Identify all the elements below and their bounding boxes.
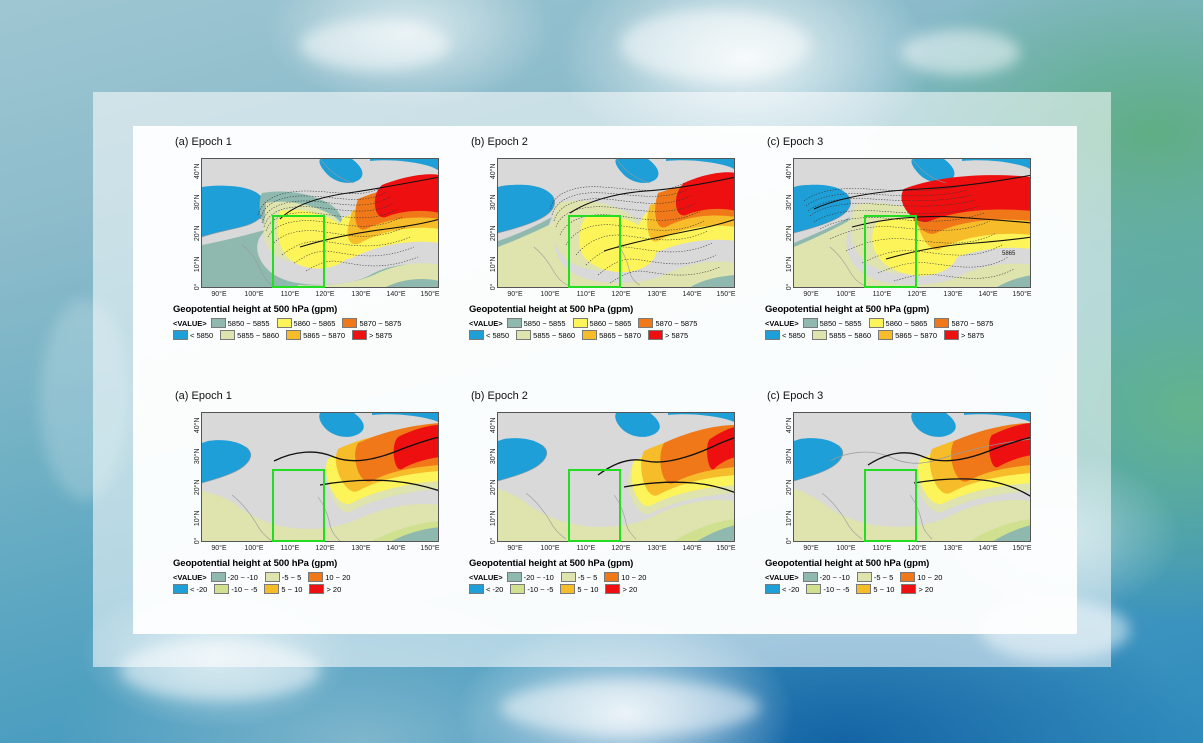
legend-item: -5 ~ 5 xyxy=(265,572,301,582)
legend-swatch xyxy=(560,584,575,594)
x-tick-110E: 110°E xyxy=(281,545,300,552)
legend-swatch xyxy=(309,584,324,594)
legend-swatch xyxy=(507,318,522,328)
legend-swatch xyxy=(211,572,226,582)
legend-value-label: <VALUE> xyxy=(173,573,207,582)
contour-map-canvas xyxy=(793,412,1031,542)
legend-value-label: <VALUE> xyxy=(469,319,503,328)
panel-title: (b) Epoch 2 xyxy=(471,390,528,402)
legend-item: 10 ~ 20 xyxy=(900,572,942,582)
legend-item: < 5850 xyxy=(765,330,805,340)
legend-item: > 5875 xyxy=(944,330,984,340)
contour-map-canvas xyxy=(201,412,439,542)
x-tick-150E: 150°E xyxy=(1012,291,1031,298)
legend-swatch xyxy=(648,330,663,340)
legend-value-label: <VALUE> xyxy=(765,573,799,582)
map-area: 40°N 30°N 20°N 10°N 0° xyxy=(497,158,735,288)
legend-swatch xyxy=(173,584,188,594)
legend-swatch xyxy=(342,318,357,328)
contour-svg xyxy=(498,413,735,542)
x-tick-140E: 140°E xyxy=(978,545,997,552)
contour-svg xyxy=(202,413,439,542)
legend-item: 5865 ~ 5870 xyxy=(878,330,937,340)
legend-item: > 20 xyxy=(901,584,933,594)
legend-swatch xyxy=(277,318,292,328)
legend-swatch xyxy=(604,572,619,582)
x-tick-90E: 90°E xyxy=(211,291,226,298)
x-tick-130E: 130°E xyxy=(943,291,962,298)
legend-item: 10 ~ 20 xyxy=(604,572,646,582)
x-tick-100E: 100°E xyxy=(540,545,559,552)
panel-anomaly-epoch-2: (b) Epoch 2 40°N 30°N 20°N 10°N 0° xyxy=(459,380,755,630)
legend-item: < 5850 xyxy=(469,330,509,340)
x-tick-90E: 90°E xyxy=(803,291,818,298)
x-tick-150E: 150°E xyxy=(420,291,439,298)
x-tick-130E: 130°E xyxy=(647,545,666,552)
x-tick-90E: 90°E xyxy=(803,545,818,552)
legend-swatch xyxy=(857,572,872,582)
legend-swatch xyxy=(469,584,484,594)
legend-item: 5855 ~ 5860 xyxy=(516,330,575,340)
legend-item: 5865 ~ 5870 xyxy=(582,330,641,340)
legend-swatch xyxy=(765,584,780,594)
legend-row-2: < 5850 5855 ~ 5860 5865 ~ 5870 > 5875 xyxy=(469,330,755,340)
legend-swatch xyxy=(469,330,484,340)
legend-row-2: < 5850 5855 ~ 5860 5865 ~ 5870 > 5875 xyxy=(173,330,459,340)
figure-sheet: (a) Epoch 1 40°N 30°N 20°N 10°N 0° xyxy=(133,126,1077,634)
legend-swatch xyxy=(806,584,821,594)
legend-item: 5 ~ 10 xyxy=(264,584,302,594)
legend-row-1: <VALUE> 5850 ~ 5855 5860 ~ 5865 5870 ~ 5… xyxy=(173,318,459,328)
legend-swatch xyxy=(638,318,653,328)
contour-map-canvas xyxy=(201,158,439,288)
map-area: 40°N 30°N 20°N 10°N 0° xyxy=(497,412,735,542)
x-tick-150E: 150°E xyxy=(420,545,439,552)
legend-absolute: Geopotential height at 500 hPa (gpm) <VA… xyxy=(765,304,1051,342)
legend-swatch xyxy=(573,318,588,328)
legend-item: > 20 xyxy=(605,584,637,594)
x-tick-100E: 100°E xyxy=(540,291,559,298)
legend-item: 5 ~ 10 xyxy=(856,584,894,594)
legend-title: Geopotential height at 500 hPa (gpm) xyxy=(173,558,459,569)
legend-item: 10 ~ 20 xyxy=(308,572,350,582)
x-tick-90E: 90°E xyxy=(507,545,522,552)
panel-anomaly-epoch-1: (a) Epoch 1 40°N 30°N 20°N 10°N 0° xyxy=(163,380,459,630)
x-tick-100E: 100°E xyxy=(244,291,263,298)
legend-swatch xyxy=(265,572,280,582)
map-area: 40°N 30°N 20°N 10°N 0° xyxy=(793,412,1031,542)
x-tick-120E: 120°E xyxy=(907,545,926,552)
legend-swatch xyxy=(173,330,188,340)
legend-swatch xyxy=(582,330,597,340)
x-tick-110E: 110°E xyxy=(873,291,892,298)
x-tick-120E: 120°E xyxy=(315,291,334,298)
legend-row-2: < -20 -10 ~ -5 5 ~ 10 > 20 xyxy=(765,584,1051,594)
panel-title: (b) Epoch 2 xyxy=(471,136,528,148)
legend-item: < -20 xyxy=(765,584,799,594)
legend-swatch xyxy=(934,318,949,328)
legend-swatch xyxy=(878,330,893,340)
legend-swatch xyxy=(561,572,576,582)
legend-swatch xyxy=(516,330,531,340)
contour-map-canvas xyxy=(497,158,735,288)
legend-item: -5 ~ 5 xyxy=(561,572,597,582)
legend-swatch xyxy=(900,572,915,582)
legend-item: -5 ~ 5 xyxy=(857,572,893,582)
legend-swatch xyxy=(507,572,522,582)
figure-row-absolute: (a) Epoch 1 40°N 30°N 20°N 10°N 0° xyxy=(133,126,1077,380)
legend-absolute: Geopotential height at 500 hPa (gpm) <VA… xyxy=(173,304,459,342)
legend-swatch xyxy=(220,330,235,340)
legend-row-1: <VALUE> -20 ~ -10 -5 ~ 5 10 ~ 20 xyxy=(469,572,755,582)
map-area: 40°N 30°N 20°N 10°N 0° xyxy=(201,412,439,542)
legend-row-1: <VALUE> -20 ~ -10 -5 ~ 5 10 ~ 20 xyxy=(765,572,1051,582)
x-tick-100E: 100°E xyxy=(244,545,263,552)
contour-svg: 5865 xyxy=(794,159,1031,288)
legend-value-label: <VALUE> xyxy=(469,573,503,582)
legend-item: 5850 ~ 5855 xyxy=(803,318,862,328)
legend-value-label: <VALUE> xyxy=(765,319,799,328)
panel-title: (c) Epoch 3 xyxy=(767,390,823,402)
legend-swatch xyxy=(901,584,916,594)
legend-item: -10 ~ -5 xyxy=(510,584,553,594)
legend-row-1: <VALUE> -20 ~ -10 -5 ~ 5 10 ~ 20 xyxy=(173,572,459,582)
legend-item: 5860 ~ 5865 xyxy=(869,318,928,328)
legend-swatch xyxy=(812,330,827,340)
x-tick-150E: 150°E xyxy=(716,291,735,298)
map-area: 40°N 30°N 20°N 10°N 0° xyxy=(793,158,1031,288)
x-tick-100E: 100°E xyxy=(836,291,855,298)
legend-item: 5870 ~ 5875 xyxy=(934,318,993,328)
map-area: 40°N 30°N 20°N 10°N 0° xyxy=(201,158,439,288)
legend-row-1: <VALUE> 5850 ~ 5855 5860 ~ 5865 5870 ~ 5… xyxy=(469,318,755,328)
legend-swatch xyxy=(869,318,884,328)
x-tick-120E: 120°E xyxy=(315,545,334,552)
legend-item: 5865 ~ 5870 xyxy=(286,330,345,340)
x-tick-110E: 110°E xyxy=(873,545,892,552)
x-tick-140E: 140°E xyxy=(386,545,405,552)
x-tick-140E: 140°E xyxy=(386,291,405,298)
legend-swatch xyxy=(352,330,367,340)
legend-swatch xyxy=(510,584,525,594)
legend-item: 5850 ~ 5855 xyxy=(211,318,270,328)
legend-swatch xyxy=(308,572,323,582)
contour-label: 5865 xyxy=(1002,251,1016,257)
x-tick-140E: 140°E xyxy=(682,291,701,298)
legend-anomaly: Geopotential height at 500 hPa (gpm) <VA… xyxy=(173,558,459,596)
legend-item: 5850 ~ 5855 xyxy=(507,318,566,328)
contour-svg xyxy=(202,159,439,288)
legend-item: < 5850 xyxy=(173,330,213,340)
panel-title: (c) Epoch 3 xyxy=(767,136,823,148)
contour-svg xyxy=(794,413,1031,542)
x-tick-120E: 120°E xyxy=(907,291,926,298)
legend-item: < -20 xyxy=(173,584,207,594)
panel-absolute-epoch-2: (b) Epoch 2 40°N 30°N 20°N 10°N 0° xyxy=(459,126,755,376)
panel-title: (a) Epoch 1 xyxy=(175,390,232,402)
legend-value-label: <VALUE> xyxy=(173,319,207,328)
legend-title: Geopotential height at 500 hPa (gpm) xyxy=(765,304,1051,315)
x-tick-150E: 150°E xyxy=(1012,545,1031,552)
legend-item: -20 ~ -10 xyxy=(507,572,554,582)
x-tick-110E: 110°E xyxy=(577,291,596,298)
legend-item: > 5875 xyxy=(352,330,392,340)
legend-title: Geopotential height at 500 hPa (gpm) xyxy=(765,558,1051,569)
legend-item: 5855 ~ 5860 xyxy=(220,330,279,340)
x-tick-130E: 130°E xyxy=(351,545,370,552)
contour-map-canvas xyxy=(497,412,735,542)
x-tick-150E: 150°E xyxy=(716,545,735,552)
legend-row-1: <VALUE> 5850 ~ 5855 5860 ~ 5865 5870 ~ 5… xyxy=(765,318,1051,328)
legend-row-2: < 5850 5855 ~ 5860 5865 ~ 5870 > 5875 xyxy=(765,330,1051,340)
legend-item: 5860 ~ 5865 xyxy=(573,318,632,328)
legend-item: -20 ~ -10 xyxy=(803,572,850,582)
legend-swatch xyxy=(856,584,871,594)
legend-swatch xyxy=(214,584,229,594)
legend-item: -10 ~ -5 xyxy=(806,584,849,594)
legend-title: Geopotential height at 500 hPa (gpm) xyxy=(469,558,755,569)
x-tick-140E: 140°E xyxy=(978,291,997,298)
legend-swatch xyxy=(803,318,818,328)
legend-swatch xyxy=(765,330,780,340)
contour-svg xyxy=(498,159,735,288)
x-tick-110E: 110°E xyxy=(577,545,596,552)
legend-item: 5870 ~ 5875 xyxy=(638,318,697,328)
legend-title: Geopotential height at 500 hPa (gpm) xyxy=(173,304,459,315)
contour-map-canvas: 5865 xyxy=(793,158,1031,288)
legend-item: > 5875 xyxy=(648,330,688,340)
legend-swatch xyxy=(211,318,226,328)
x-tick-130E: 130°E xyxy=(647,291,666,298)
figure-row-anomaly: (a) Epoch 1 40°N 30°N 20°N 10°N 0° xyxy=(133,380,1077,634)
legend-item: 5860 ~ 5865 xyxy=(277,318,336,328)
legend-row-2: < -20 -10 ~ -5 5 ~ 10 > 20 xyxy=(469,584,755,594)
legend-item: 5870 ~ 5875 xyxy=(342,318,401,328)
panel-absolute-epoch-3: (c) Epoch 3 40°N 30°N 20°N 10°N 0° xyxy=(755,126,1051,376)
x-tick-100E: 100°E xyxy=(836,545,855,552)
legend-item: 5 ~ 10 xyxy=(560,584,598,594)
legend-swatch xyxy=(605,584,620,594)
legend-anomaly: Geopotential height at 500 hPa (gpm) <VA… xyxy=(765,558,1051,596)
x-tick-130E: 130°E xyxy=(943,545,962,552)
x-tick-120E: 120°E xyxy=(611,545,630,552)
panel-title: (a) Epoch 1 xyxy=(175,136,232,148)
x-tick-110E: 110°E xyxy=(281,291,300,298)
x-tick-90E: 90°E xyxy=(211,545,226,552)
x-tick-130E: 130°E xyxy=(351,291,370,298)
legend-absolute: Geopotential height at 500 hPa (gpm) <VA… xyxy=(469,304,755,342)
legend-swatch xyxy=(286,330,301,340)
panel-absolute-epoch-1: (a) Epoch 1 40°N 30°N 20°N 10°N 0° xyxy=(163,126,459,376)
legend-item: > 20 xyxy=(309,584,341,594)
legend-swatch xyxy=(803,572,818,582)
legend-swatch xyxy=(944,330,959,340)
legend-row-2: < -20 -10 ~ -5 5 ~ 10 > 20 xyxy=(173,584,459,594)
panel-anomaly-epoch-3: (c) Epoch 3 40°N 30°N 20°N 10°N 0° xyxy=(755,380,1051,630)
legend-item: 5855 ~ 5860 xyxy=(812,330,871,340)
x-tick-120E: 120°E xyxy=(611,291,630,298)
legend-item: -20 ~ -10 xyxy=(211,572,258,582)
legend-item: -10 ~ -5 xyxy=(214,584,257,594)
legend-swatch xyxy=(264,584,279,594)
x-tick-90E: 90°E xyxy=(507,291,522,298)
x-tick-140E: 140°E xyxy=(682,545,701,552)
legend-item: < -20 xyxy=(469,584,503,594)
legend-title: Geopotential height at 500 hPa (gpm) xyxy=(469,304,755,315)
legend-anomaly: Geopotential height at 500 hPa (gpm) <VA… xyxy=(469,558,755,596)
